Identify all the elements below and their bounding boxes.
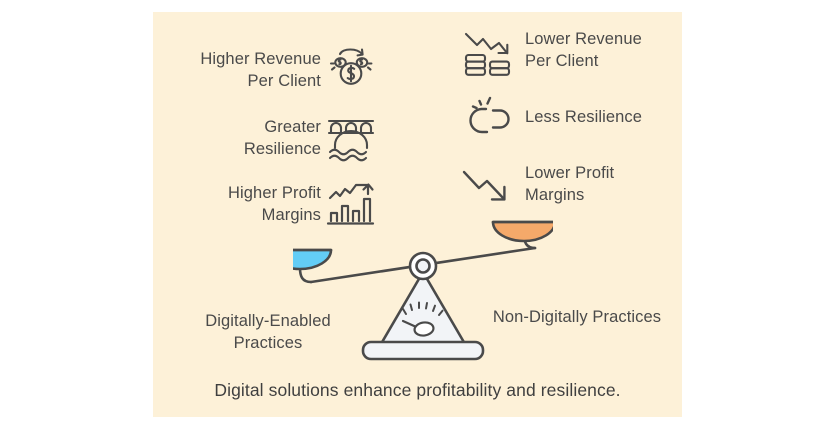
scale-label-digitally-enabled-practices: Digitally-Enabled Practices	[171, 310, 365, 354]
drawback-label-less-resilience: Less Resilience	[525, 106, 685, 128]
bridge-icon	[325, 112, 377, 164]
coin-stacks-down-arrow-icon	[461, 26, 517, 82]
caption-text: Digital solutions enhance profitability …	[153, 380, 682, 401]
broken-link-icon	[463, 92, 515, 144]
revenue-coin-rotate-icon	[325, 40, 377, 92]
infographic-root: Higher Revenue Per Client	[0, 0, 835, 429]
benefit-label-higher-revenue-per-client: Higher Revenue Per Client	[173, 48, 321, 92]
drawback-label-lower-profit-margins: Lower Profit Margins	[525, 162, 685, 206]
infographic-panel: Higher Revenue Per Client	[153, 12, 682, 417]
scale-label-non-digitally-practices: Non-Digitally Practices	[471, 306, 683, 328]
trend-down-arrow-icon	[459, 162, 515, 212]
benefit-label-greater-resilience: Greater Resilience	[193, 116, 321, 160]
drawback-label-lower-revenue-per-client: Lower Revenue Per Client	[525, 28, 685, 72]
